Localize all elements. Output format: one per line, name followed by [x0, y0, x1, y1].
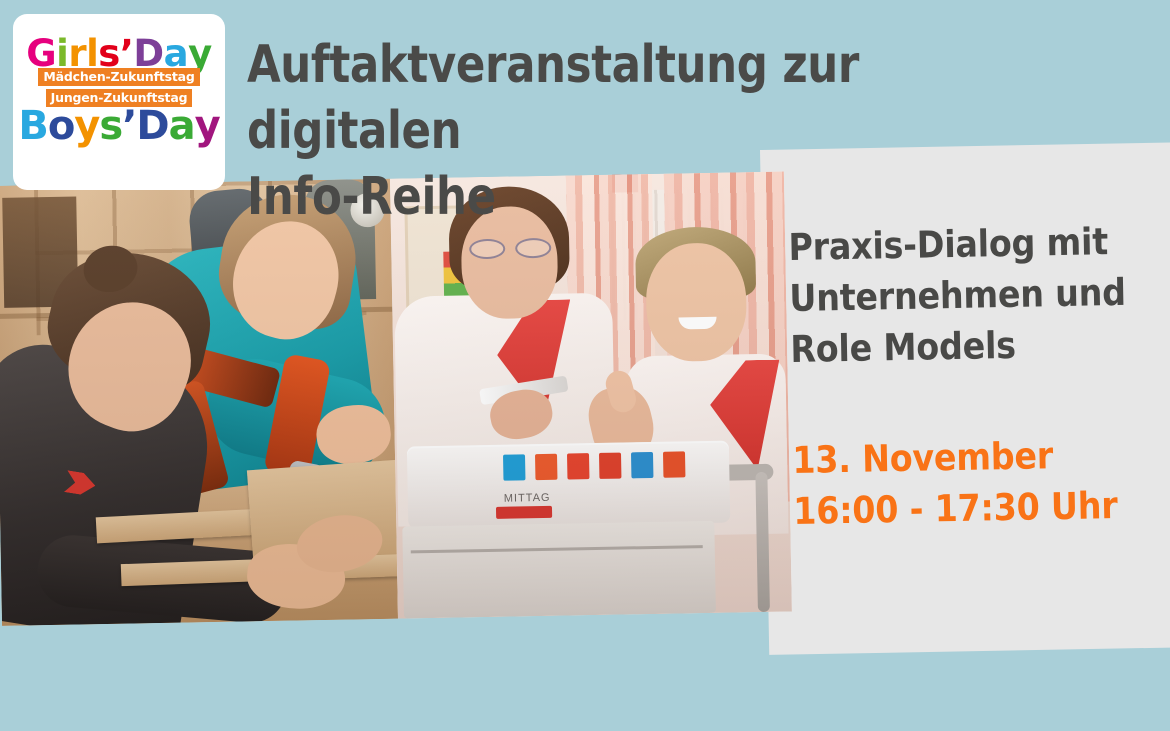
nursing-care-photo: MITTAG [390, 172, 792, 619]
tray-label: MITTAG [504, 492, 551, 505]
bd-letter-1: o [48, 105, 74, 147]
event-time: 16:00 - 17:30 Uhr [793, 479, 1154, 537]
bd-letter-0: B [18, 105, 48, 147]
girls-day-subtitle-band: Mädchen-Zukunftstag [38, 68, 199, 86]
page-title: Auftaktveranstaltung zur digitalen Info-… [247, 32, 1084, 230]
headline-line-2: Info-Reihe [247, 164, 1084, 230]
bd-apostrophe: ’ [122, 105, 136, 147]
medication-cups [503, 451, 695, 483]
glasses-icon [469, 238, 551, 255]
event-datetime: 13. November 16:00 - 17:30 Uhr [792, 428, 1154, 537]
boy-head [645, 242, 747, 362]
info-panel-text: Praxis-Dialog mit Unternehmen und Role M… [788, 215, 1154, 537]
event-poster: MITTAG Auftaktveranstaltung zur digitale… [0, 0, 1170, 731]
tray-brand-sticker [496, 506, 552, 519]
cart-post [755, 472, 770, 612]
bd-letter-2: y [74, 105, 99, 147]
panel-subject: Praxis-Dialog mit Unternehmen und Role M… [788, 215, 1151, 375]
bd-letter-3: s [99, 105, 122, 147]
panel-subject-line-3: Role Models [790, 317, 1151, 375]
bd-day-letter-1: a [169, 105, 195, 147]
boys-day-wordmark: Boys’Day [13, 105, 225, 147]
medication-cart-body [402, 521, 716, 619]
bd-day-letter-2: y [195, 105, 220, 147]
girls-day-boys-day-logo[interactable]: Girls’Day Mädchen-Zukunftstag Jungen-Zuk… [13, 14, 225, 190]
event-date: 13. November [792, 428, 1153, 486]
panel-subject-line-2: Unternehmen und [789, 266, 1150, 324]
carpentry-workshop-photo [0, 179, 398, 626]
girls-day-band-row: Mädchen-Zukunftstag [13, 68, 225, 87]
photo-band: MITTAG [0, 172, 792, 626]
bd-day-letter-0: D [136, 105, 168, 147]
headline-line-1: Auftaktveranstaltung zur digitalen [247, 32, 1084, 164]
